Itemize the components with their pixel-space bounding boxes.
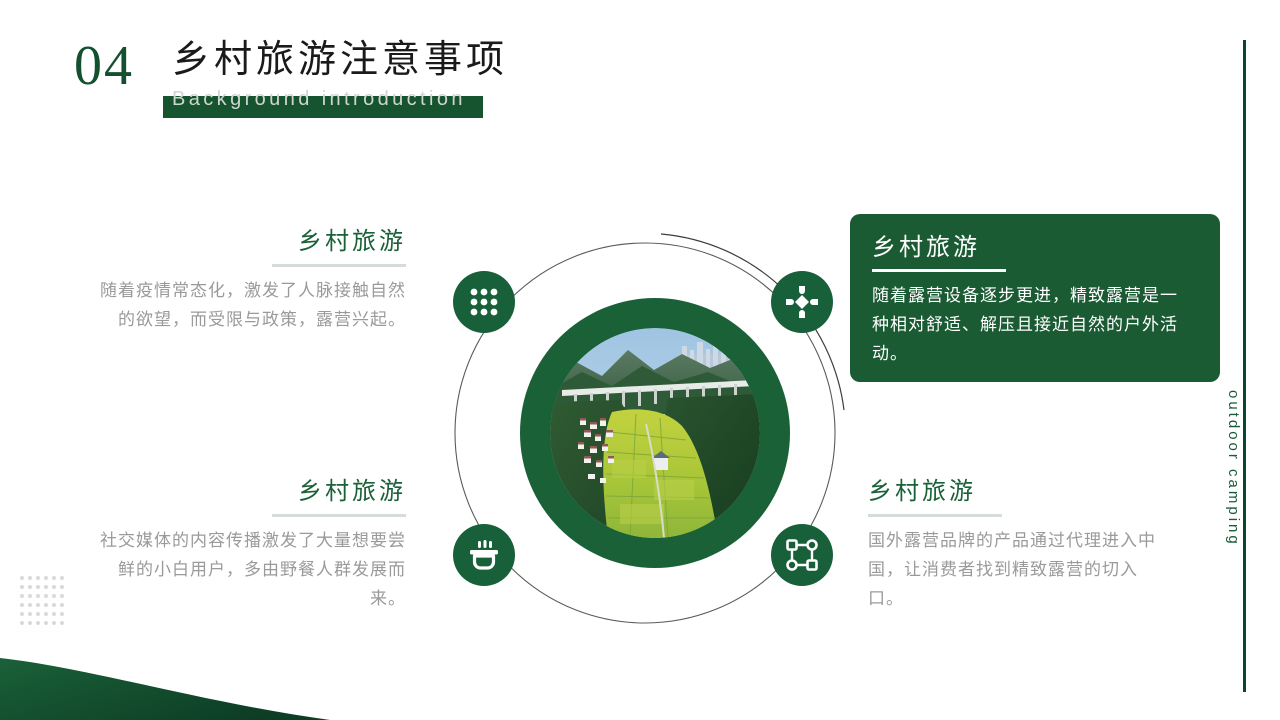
move-cross-arrows-icon[interactable] — [771, 271, 833, 333]
center-photo — [550, 328, 760, 538]
right-rail-label: outdoor camping — [1216, 390, 1242, 547]
slide-header: 04 乡村旅游注意事项 Background introduction — [0, 0, 1280, 140]
info-block-heading: 乡村旅游 — [298, 228, 406, 262]
heading-rule — [868, 514, 1002, 517]
corner-curve-decoration — [0, 630, 330, 720]
steaming-pot-glyph — [468, 539, 500, 571]
heading-rule — [872, 269, 1006, 272]
info-block-bottom-right: 乡村旅游 国外露营品牌的产品通过代理进入中国，让消费者找到精致露营的切入口。 — [868, 478, 1168, 614]
slide-canvas: 04 乡村旅游注意事项 Background introduction outd… — [0, 0, 1280, 720]
heading-rule — [272, 514, 406, 517]
vector-nodes-glyph — [786, 539, 818, 571]
info-block-body: 随着疫情常态化，激发了人脉接触自然的欲望，而受限与政策，露营兴起。 — [96, 276, 406, 334]
move-cross-arrows-glyph — [786, 286, 818, 318]
info-block-heading: 乡村旅游 — [298, 478, 406, 512]
steaming-pot-icon[interactable] — [453, 524, 515, 586]
grid-dots-icon[interactable] — [453, 271, 515, 333]
info-block-heading: 乡村旅游 — [868, 478, 976, 512]
info-block-bottom-left: 乡村旅游 社交媒体的内容传播激发了大量想要尝鲜的小白用户，多由野餐人群发展而来。 — [96, 478, 406, 614]
info-card-body: 随着露营设备逐步更进，精致露营是一种相对舒适、解压且接近自然的户外活动。 — [872, 281, 1194, 369]
info-card-heading: 乡村旅游 — [872, 234, 980, 268]
photo-ring — [520, 298, 790, 568]
dot-grid-decoration — [20, 576, 68, 630]
grid-dots-glyph — [469, 287, 499, 317]
info-block-body: 社交媒体的内容传播激发了大量想要尝鲜的小白用户，多由野餐人群发展而来。 — [96, 526, 406, 614]
section-number: 04 — [74, 38, 134, 94]
right-rail-line — [1243, 40, 1246, 692]
info-card-top-right[interactable]: 乡村旅游 随着露营设备逐步更进，精致露营是一种相对舒适、解压且接近自然的户外活动… — [850, 214, 1220, 382]
heading-rule — [272, 264, 406, 267]
info-block-body: 国外露营品牌的产品通过代理进入中国，让消费者找到精致露营的切入口。 — [868, 526, 1168, 614]
page-subtitle: Background introduction — [172, 88, 466, 111]
info-block-top-left: 乡村旅游 随着疫情常态化，激发了人脉接触自然的欲望，而受限与政策，露营兴起。 — [96, 228, 406, 334]
center-diagram — [420, 198, 870, 668]
page-title: 乡村旅游注意事项 — [172, 40, 508, 82]
vector-nodes-icon[interactable] — [771, 524, 833, 586]
